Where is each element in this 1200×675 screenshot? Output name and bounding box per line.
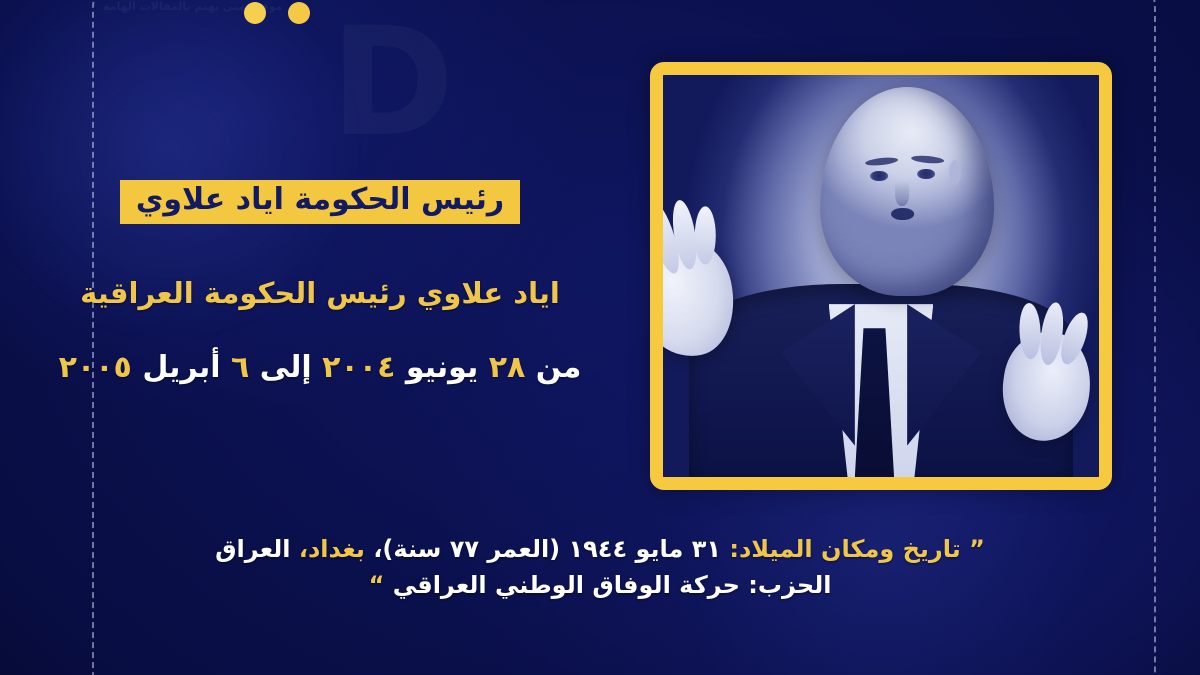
subtitle: اياد علاوي رئيس الحكومة العراقية [0,276,640,310]
decorative-dots [244,2,310,24]
headline-column: رئيس الحكومة اياد علاوي اياد علاوي رئيس … [0,180,640,385]
portrait-photo [663,75,1099,477]
term-end-day: ٦ [231,350,249,385]
term-end-month: أبريل [142,350,220,385]
bio-quote-block: ” تاريخ ومكان الميلاد: ٣١ مايو ١٩٤٤ (الع… [0,532,1200,603]
term-start-month: يونيو [406,350,478,385]
background-watermark-letter: D [330,8,457,158]
portrait-eye-left [871,171,888,181]
term-dates: من ٢٨ يونيو ٢٠٠٤ إلى ٦ أبريل ٢٠٠٥ [0,350,640,385]
portrait-brow-right [910,155,944,165]
portrait-frame [650,62,1112,490]
bio-birth-value-1: ٣١ مايو ١٩٤٤ (العمر ٧٧ سنة)، [373,535,721,563]
term-prefix: من [536,350,582,385]
bio-party-value: حركة الوفاق الوطني العراقي [393,571,740,599]
portrait-eye-right [918,169,935,179]
term-end-year: ٢٠٠٥ [59,350,132,385]
bio-line-2: الحزب: حركة الوفاق الوطني العراقي “ [180,568,1020,604]
open-quote-mark: ” [969,535,985,563]
bio-birth-city: بغداد، [299,535,365,563]
portrait-mouth [891,208,914,219]
dot-icon-2 [244,2,266,24]
portrait-head [820,87,994,296]
portrait-nose [895,181,909,206]
bio-party-label: الحزب: [748,571,831,599]
poster-canvas: D موقع يمني يهتم بالمقالات الهامة رئيس ا… [0,0,1200,675]
bio-birth-country: العراق [215,535,290,563]
portrait-container [650,62,1112,490]
term-start-day: ٢٨ [489,350,526,385]
portrait-brow-left [865,156,899,166]
bio-birth-label: تاريخ ومكان الميلاد: [729,535,960,563]
page-title: رئيس الحكومة اياد علاوي [120,180,520,224]
dot-icon-1 [288,2,310,24]
bio-line-1: ” تاريخ ومكان الميلاد: ٣١ مايو ١٩٤٤ (الع… [180,532,1020,568]
term-connector: إلى [260,350,312,385]
term-start-year: ٢٠٠٤ [322,350,395,385]
portrait-ear [949,160,961,185]
close-quote-mark: “ [369,571,385,599]
